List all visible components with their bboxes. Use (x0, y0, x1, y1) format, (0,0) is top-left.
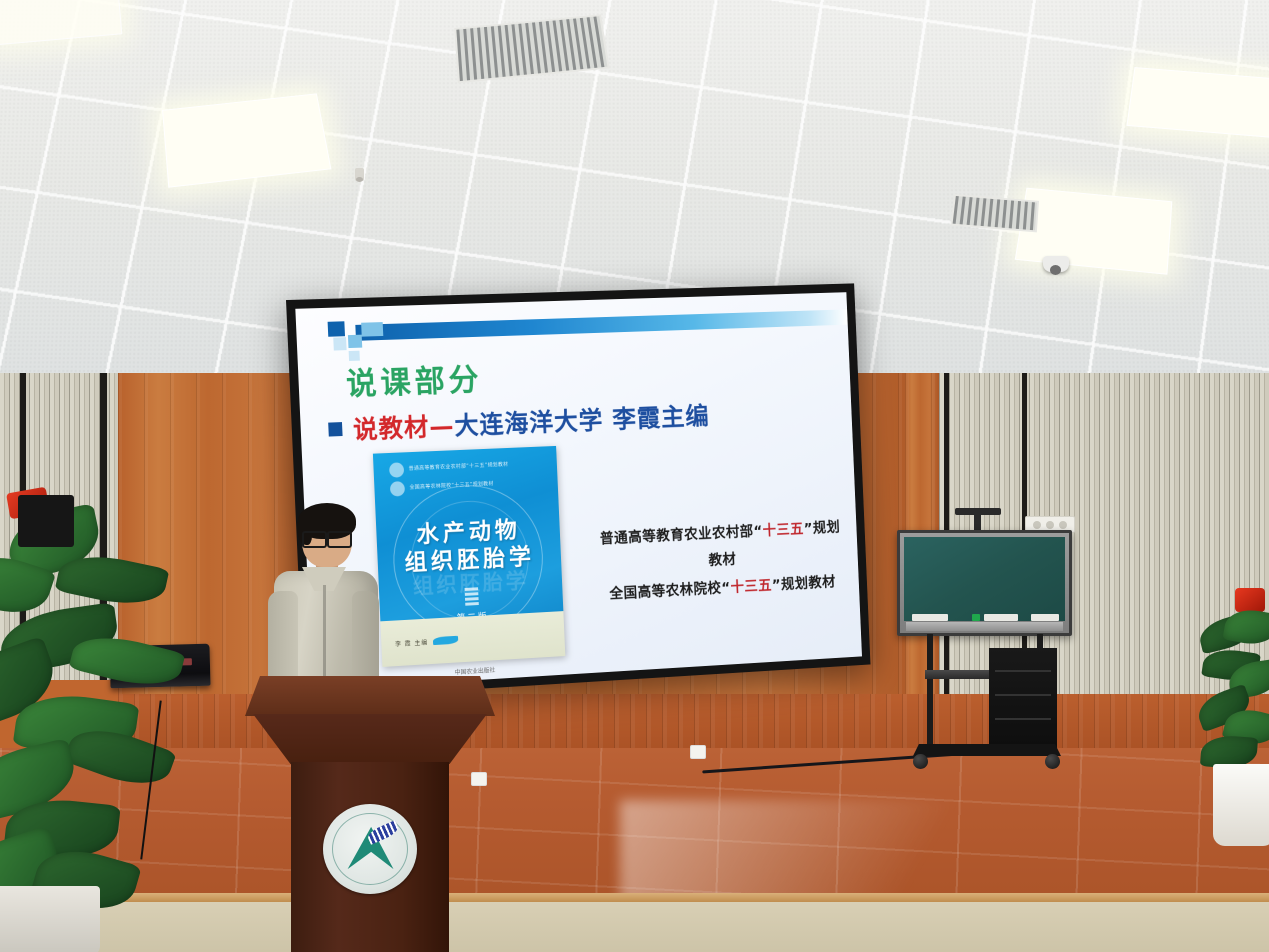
fire-sprinkler-icon (355, 168, 364, 181)
security-camera-icon (1043, 256, 1069, 272)
cart-caster-right (1045, 754, 1060, 769)
display-button-center[interactable] (984, 614, 1018, 621)
plant-pot-left (0, 886, 100, 952)
book-author: 李 霞 主编 (395, 637, 428, 648)
cabinet-line-3 (995, 718, 1051, 720)
display-power-button[interactable] (972, 614, 980, 621)
podium (245, 676, 495, 952)
display-button-left[interactable] (912, 614, 948, 621)
textbook-cover-image: 普通高等教育农业农村部“十三五”规划教材 全国高等农林院校“十三五”规划教材 组… (373, 446, 565, 667)
slide-bullet-row: 说教材—大连海洋大学 李霞主编 (328, 397, 710, 448)
podium-top-surface (245, 676, 495, 716)
cart-caster-left (913, 754, 928, 769)
slide-title: 说课部分 (345, 354, 483, 403)
cart-base (913, 744, 1061, 756)
slide-decor-square-4 (361, 322, 383, 337)
display-screen[interactable] (904, 537, 1065, 621)
podium-mid-section (253, 714, 487, 764)
bullet-square-icon (328, 422, 342, 436)
lecture-hall-scene: 说课部分 说教材—大连海洋大学 李霞主编 普通高等教育农业农村部“十三五”规划教… (0, 0, 1269, 952)
display-button-right[interactable] (1031, 614, 1059, 621)
slide-right-text-block: 普通高等教育农业农村部“十三五”规划教材 全国高等农林院校“十三五”规划教材 (596, 514, 847, 609)
slide-decor-square-1 (328, 321, 345, 336)
plant-pot-right (1213, 764, 1269, 846)
bullet-red-text: 说教材— (353, 412, 456, 445)
cabinet-line-1 (995, 670, 1051, 672)
right-line-2-pre: 全国高等农林院校“ (609, 580, 731, 602)
right-line-2-post: ”规划教材 (772, 574, 836, 593)
right-line-1-pre: 普通高等教育农业农村部“ (600, 524, 763, 548)
university-crest-icon (323, 804, 417, 894)
slide-decor-square-3 (333, 337, 346, 350)
book-header-line-1: 普通高等教育农业农村部“十三五”规划教材 (409, 461, 509, 472)
cart-shelf (925, 670, 993, 679)
display-camera-bar (955, 508, 1001, 515)
outlet-socket-1 (1033, 521, 1041, 529)
book-seal-icon-2 (390, 481, 405, 497)
right-line-2-red: 十三五 (730, 578, 772, 596)
bullet-blue-text: 大连海洋大学 李霞主编 (454, 402, 710, 441)
display-bottom-bezel (906, 622, 1063, 631)
right-line-1-red: 十三五 (762, 522, 804, 539)
cart-pole-left (927, 634, 933, 746)
presenter-shirt-placket (323, 585, 326, 685)
book-dot-decor (465, 587, 479, 605)
interactive-display-cart[interactable] (897, 530, 1072, 780)
book-footer: 李 霞 主编 (380, 611, 565, 667)
book-seal-icon-1 (389, 462, 404, 478)
outlet-socket-3 (1059, 521, 1067, 529)
slide-decor-bar (355, 309, 847, 340)
slide-decor-square-2 (348, 335, 362, 348)
potted-plant-right (1195, 592, 1269, 852)
chair-backrest (18, 495, 74, 547)
cart-cabinet (989, 648, 1057, 748)
wall-socket-icon (690, 745, 706, 759)
potted-plant-left (0, 500, 195, 952)
fish-icon (433, 636, 459, 645)
outlet-socket-2 (1046, 521, 1054, 529)
book-title: 水产动物 组织胚胎学 (376, 514, 562, 578)
slide-bullet-text: 说教材—大连海洋大学 李霞主编 (352, 397, 710, 447)
cabinet-line-2 (995, 694, 1051, 696)
interactive-display[interactable] (897, 530, 1072, 636)
glasses-icon (302, 531, 352, 544)
slide-surface: 说课部分 说教材—大连海洋大学 李霞主编 普通高等教育农业农村部“十三五”规划教… (295, 292, 862, 690)
plant-ribbon-right (1235, 588, 1265, 612)
